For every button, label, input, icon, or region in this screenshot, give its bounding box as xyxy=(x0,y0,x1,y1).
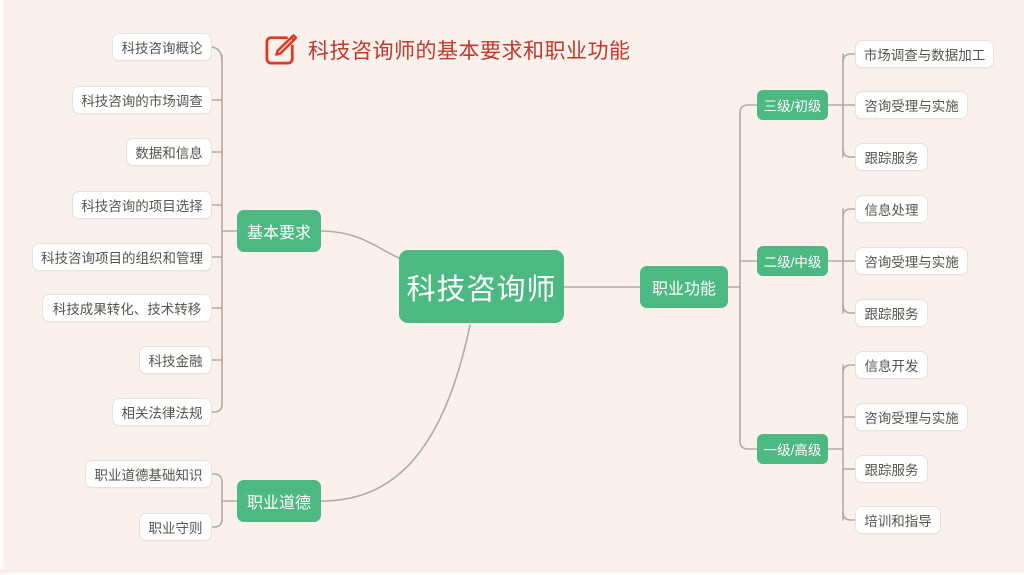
branch-node-job-functions[interactable]: 职业功能 xyxy=(640,266,728,308)
leaf-basic-1[interactable]: 科技咨询概论 xyxy=(112,33,212,61)
leaf-l2-2[interactable]: 咨询受理与实施 xyxy=(855,247,968,275)
link-l3-child-3 xyxy=(843,149,855,157)
leaf-basic-3[interactable]: 数据和信息 xyxy=(126,138,212,166)
link-level-3 xyxy=(740,105,757,113)
leaf-l1-1[interactable]: 信息开发 xyxy=(855,351,928,379)
leaf-l3-1[interactable]: 市场调查与数据加工 xyxy=(855,40,994,68)
leaf-basic-2[interactable]: 科技咨询的市场调查 xyxy=(72,86,212,114)
mindmap-canvas: 科技咨询师的基本要求和职业功能 科技咨询师 基本要求 职业道德 科技咨询概论 科… xyxy=(0,0,1024,575)
link-basic-to-root xyxy=(321,231,399,258)
leaf-basic-5[interactable]: 科技咨询项目的组织和管理 xyxy=(32,243,212,271)
leaf-basic-8[interactable]: 相关法律法规 xyxy=(112,398,212,426)
leaf-basic-6[interactable]: 科技成果转化、技术转移 xyxy=(42,294,212,322)
link-l2-child-3 xyxy=(843,305,855,313)
level-node-3-junior[interactable]: 三级/初级 xyxy=(757,90,828,120)
link-l1-child-4 xyxy=(843,512,855,520)
branch-node-professional-ethics[interactable]: 职业道德 xyxy=(237,480,321,522)
link-l3-child-1 xyxy=(843,54,855,62)
link-ethics-to-root xyxy=(321,325,470,501)
leaf-ethics-1[interactable]: 职业道德基础知识 xyxy=(85,460,212,488)
link-l2-child-1 xyxy=(843,209,855,217)
link-level-1 xyxy=(740,441,757,449)
leaf-l1-4[interactable]: 培训和指导 xyxy=(855,506,941,534)
branch-node-basic-requirements[interactable]: 基本要求 xyxy=(237,210,321,252)
leaf-l3-2[interactable]: 咨询受理与实施 xyxy=(855,91,968,119)
leaf-l1-2[interactable]: 咨询受理与实施 xyxy=(855,403,968,431)
leaf-l2-1[interactable]: 信息处理 xyxy=(855,195,928,223)
edit-pencil-icon xyxy=(262,32,298,68)
link-ethics-child-1 xyxy=(212,474,222,482)
leaf-l1-3[interactable]: 跟踪服务 xyxy=(855,455,928,483)
level-node-2-intermediate[interactable]: 二级/中级 xyxy=(757,246,828,276)
level-node-1-senior[interactable]: 一级/高级 xyxy=(757,434,828,464)
leaf-l2-3[interactable]: 跟踪服务 xyxy=(855,299,928,327)
link-ethics-child-2 xyxy=(212,519,222,527)
link-l1-child-1 xyxy=(843,365,855,373)
page-title: 科技咨询师的基本要求和职业功能 xyxy=(308,35,631,65)
leaf-basic-4[interactable]: 科技咨询的项目选择 xyxy=(72,191,212,219)
leaf-ethics-2[interactable]: 职业守则 xyxy=(139,513,212,541)
title-block: 科技咨询师的基本要求和职业功能 xyxy=(262,32,631,68)
leaf-l3-3[interactable]: 跟踪服务 xyxy=(855,143,928,171)
link-basic-child-8 xyxy=(212,404,222,412)
leaf-basic-7[interactable]: 科技金融 xyxy=(139,346,212,374)
root-node[interactable]: 科技咨询师 xyxy=(399,250,564,323)
